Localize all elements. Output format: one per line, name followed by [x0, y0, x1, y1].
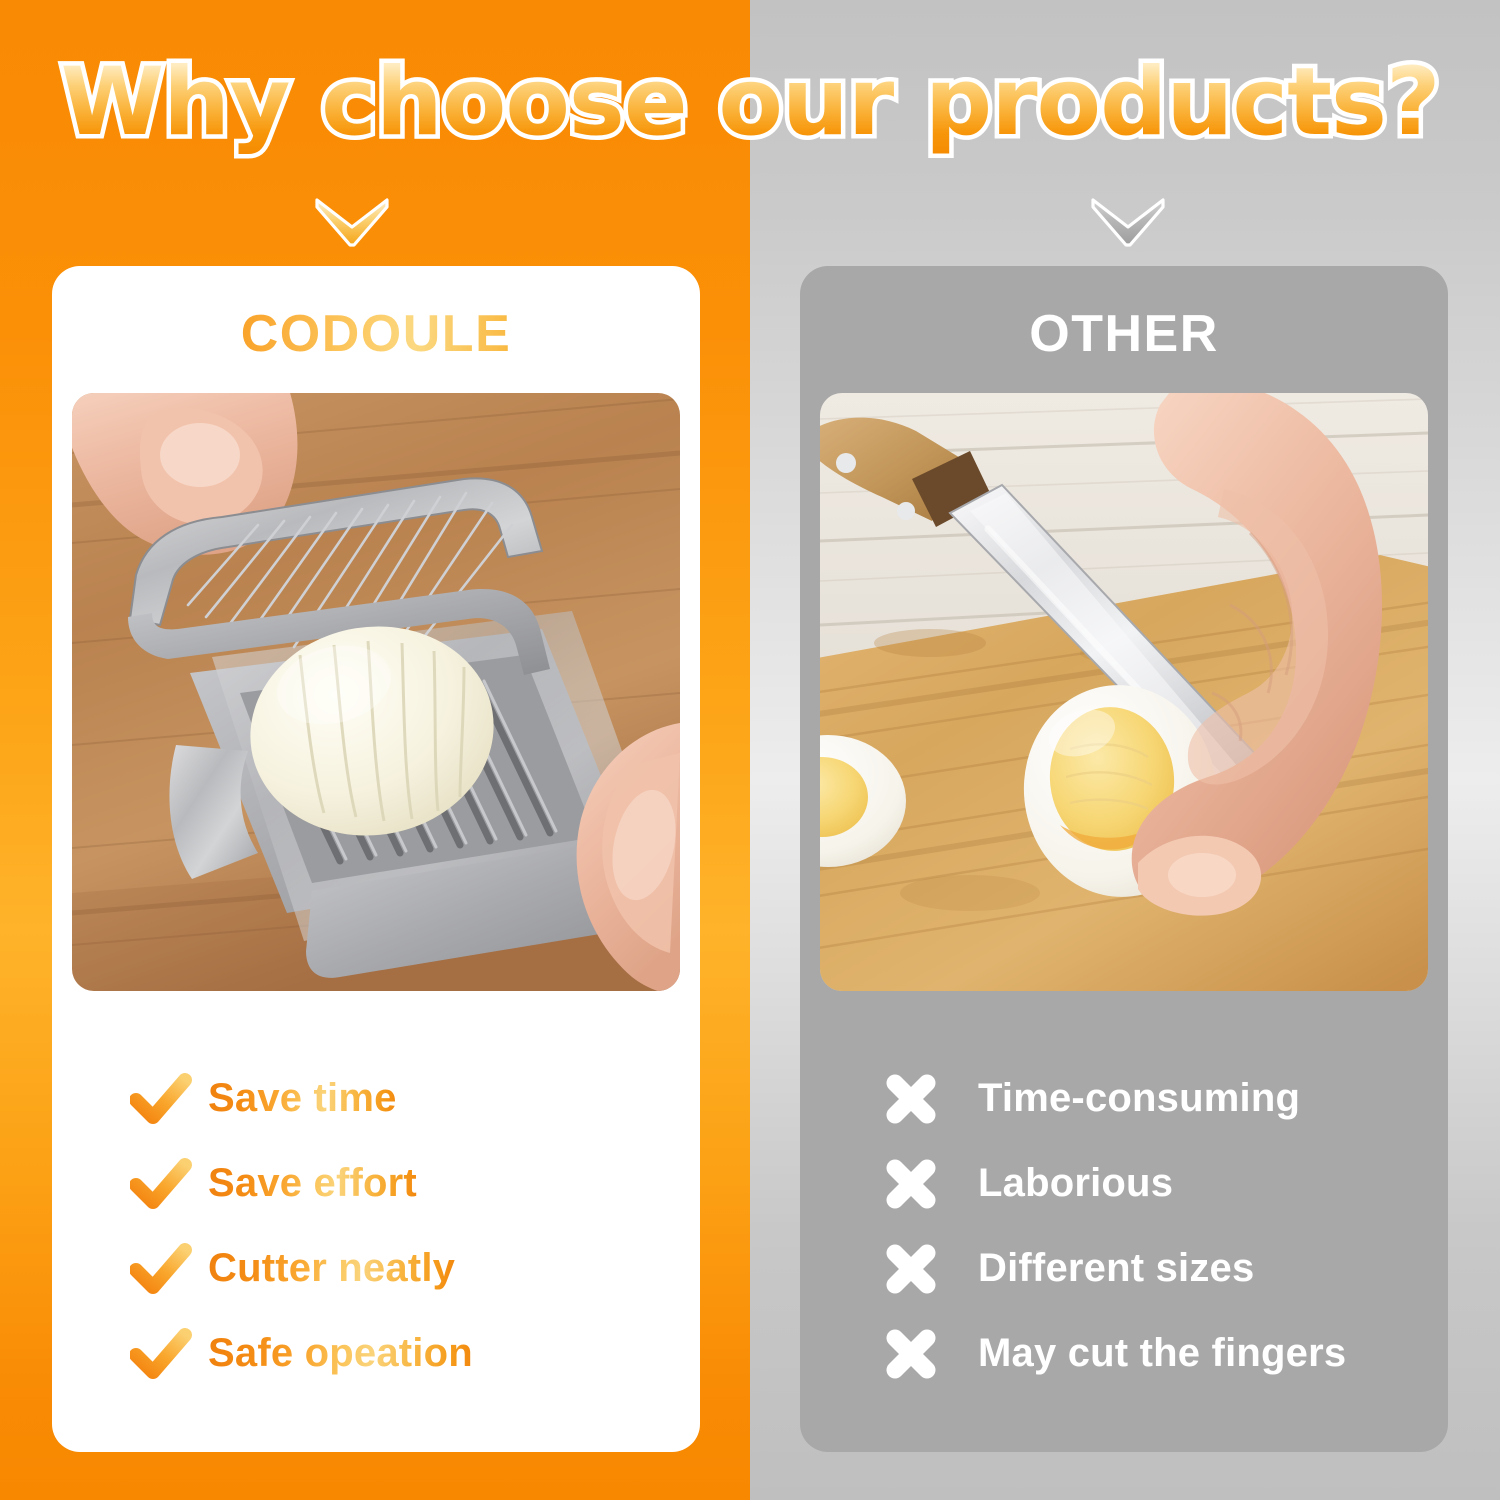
cross-icon [882, 1325, 978, 1383]
page-title: Why choose our products? Why choose our … [61, 54, 1440, 153]
list-item: Safe opeation [130, 1311, 700, 1396]
list-item: Time-consuming [882, 1056, 1448, 1141]
list-item: Cutter neatly [130, 1226, 700, 1311]
page-title-fill: Why choose our products? [61, 48, 1440, 157]
headline-container: Why choose our products? Why choose our … [0, 54, 1500, 153]
list-item-label: Save time [208, 1076, 397, 1121]
check-icon [130, 1158, 208, 1210]
list-item: Laborious [882, 1141, 1448, 1226]
product-photo-codoule [72, 393, 680, 991]
panel-title-other: OTHER [800, 304, 1448, 364]
list-item: Save time [130, 1056, 700, 1141]
list-item-label: Cutter neatly [208, 1246, 455, 1291]
benefits-list: Save time Save effort Cutter neatly [52, 1056, 700, 1396]
list-item-label: Safe opeation [208, 1331, 473, 1376]
list-item-label: Save effort [208, 1161, 417, 1206]
list-item: Save effort [130, 1141, 700, 1226]
cross-icon [882, 1240, 978, 1298]
list-item: Different sizes [882, 1226, 1448, 1311]
list-item-label: May cut the fingers [978, 1331, 1346, 1376]
panel-title-codoule: CODOULE [52, 304, 700, 364]
product-photo-other [820, 393, 1428, 991]
list-item: May cut the fingers [882, 1311, 1448, 1396]
check-icon [130, 1073, 208, 1125]
drawbacks-list: Time-consuming Laborious Different sizes [800, 1056, 1448, 1396]
chevron-down-icon [314, 196, 390, 248]
check-icon [130, 1328, 208, 1380]
check-icon [130, 1243, 208, 1295]
cross-icon [882, 1155, 978, 1213]
panel-codoule: CODOULE [52, 266, 700, 1452]
cross-icon [882, 1070, 978, 1128]
chevron-down-icon [1090, 196, 1166, 248]
panel-other: OTHER [800, 266, 1448, 1452]
list-item-label: Different sizes [978, 1246, 1254, 1291]
list-item-label: Laborious [978, 1161, 1173, 1206]
list-item-label: Time-consuming [978, 1076, 1300, 1121]
